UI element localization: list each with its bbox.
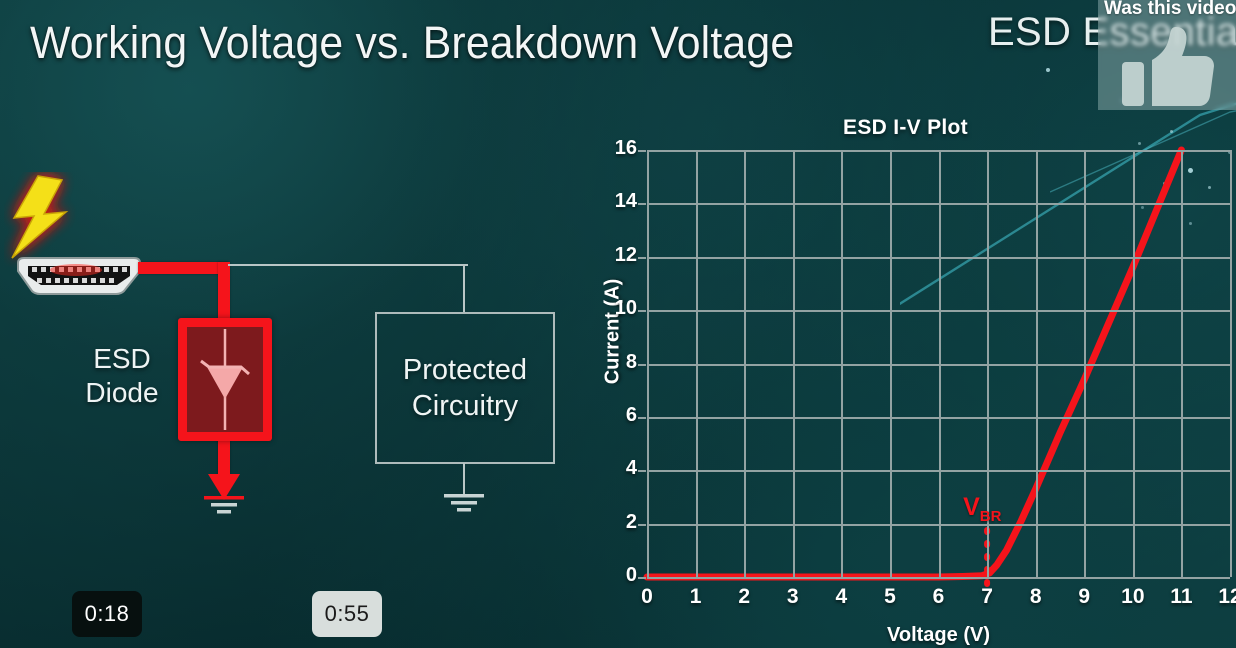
y-axis-tick-label: 16 — [595, 137, 637, 160]
y-axis-tick-label: 4 — [595, 457, 637, 480]
slide-title: Working Voltage vs. Breakdown Voltage — [30, 16, 794, 70]
y-axis-tick-mark — [638, 364, 646, 366]
chart-xlabel: Voltage (V) — [647, 624, 1230, 647]
zener-diode-icon — [187, 327, 263, 432]
protected-circuitry-block[interactable]: Protected Circuitry — [375, 312, 555, 464]
y-axis-tick-mark — [638, 150, 646, 152]
signal-wire-vertical — [463, 264, 465, 314]
gridline-horizontal — [647, 470, 1230, 472]
y-axis-tick-label: 2 — [595, 511, 637, 534]
chart-title: ESD I-V Plot — [575, 116, 1236, 140]
breakdown-voltage-label: VBR — [963, 493, 1001, 525]
y-axis-tick-label: 10 — [595, 297, 637, 320]
protected-circuitry-label-line2: Circuitry — [412, 388, 518, 424]
y-axis-tick-mark — [638, 577, 646, 579]
esd-diode-label: ESD Diode — [70, 342, 174, 410]
y-axis-tick-mark — [638, 257, 646, 259]
ground-symbol-icon — [440, 493, 488, 515]
ground-symbol-icon — [200, 495, 248, 517]
timestamp-total[interactable]: 0:55 — [312, 591, 382, 637]
x-axis-tick-label: 8 — [1016, 585, 1056, 609]
survey-question: Was this video — [1104, 0, 1236, 20]
timestamp-current[interactable]: 0:18 — [72, 591, 142, 637]
x-axis-tick-label: 1 — [676, 585, 716, 609]
y-axis-tick-mark — [638, 203, 646, 205]
y-axis-tick-label: 8 — [595, 351, 637, 374]
y-axis-tick-mark — [638, 417, 646, 419]
vbr-subscript: BR — [980, 508, 1002, 525]
y-axis-tick-mark — [638, 310, 646, 312]
video-frame: Working Voltage vs. Breakdown Voltage ES… — [0, 0, 1236, 648]
x-axis-tick-label: 3 — [773, 585, 813, 609]
x-axis-tick-label: 9 — [1064, 585, 1104, 609]
x-axis-tick-label: 6 — [919, 585, 959, 609]
x-axis-tick-label: 5 — [870, 585, 910, 609]
hdmi-connector-icon — [14, 255, 144, 297]
x-axis-tick-label: 12 — [1210, 585, 1236, 609]
y-axis-tick-mark — [638, 524, 646, 526]
gridline-horizontal — [647, 257, 1230, 259]
gridline-horizontal — [647, 417, 1230, 419]
protected-ground-wire — [463, 463, 465, 495]
x-axis-tick-label: 4 — [821, 585, 861, 609]
signal-wire-horizontal — [228, 264, 468, 266]
y-axis-tick-label: 0 — [595, 564, 637, 587]
esd-diode-label-line1: ESD — [70, 342, 174, 376]
circuit-diagram: ESD Diode Protected Circuitry — [0, 150, 600, 570]
gridline-horizontal — [647, 364, 1230, 366]
x-axis-tick-label: 7 — [967, 585, 1007, 609]
esd-diode-component[interactable] — [178, 318, 272, 441]
gridline-horizontal — [647, 310, 1230, 312]
x-axis-tick-label: 0 — [627, 585, 667, 609]
gridline-horizontal — [647, 577, 1230, 579]
y-axis-tick-label: 12 — [595, 244, 637, 267]
particle — [1046, 68, 1050, 72]
thumbs-up-icon[interactable] — [1118, 26, 1218, 110]
x-axis-tick-label: 11 — [1161, 585, 1201, 609]
gridline-vertical — [1230, 150, 1232, 577]
wire-node-to-diode — [218, 262, 230, 324]
youtube-survey-overlay[interactable]: Was this video — [1098, 0, 1236, 110]
esd-diode-label-line2: Diode — [70, 376, 174, 410]
y-axis-tick-mark — [638, 470, 646, 472]
gridline-horizontal — [647, 150, 1230, 152]
gridline-horizontal — [647, 203, 1230, 205]
y-axis-tick-label: 6 — [595, 404, 637, 427]
vbr-symbol: V — [963, 493, 980, 521]
x-axis-tick-label: 10 — [1113, 585, 1153, 609]
protected-circuitry-label-line1: Protected — [403, 352, 527, 388]
y-axis-tick-label: 14 — [595, 190, 637, 213]
wire-connector-to-node — [138, 262, 228, 274]
x-axis-tick-label: 2 — [724, 585, 764, 609]
chart-ylabel: Current (A) — [602, 252, 625, 412]
plot-area — [647, 150, 1230, 577]
gridline-horizontal — [647, 524, 1230, 526]
esd-iv-chart: ESD I-V Plot Current (A) Voltage (V) VBR… — [575, 108, 1236, 648]
